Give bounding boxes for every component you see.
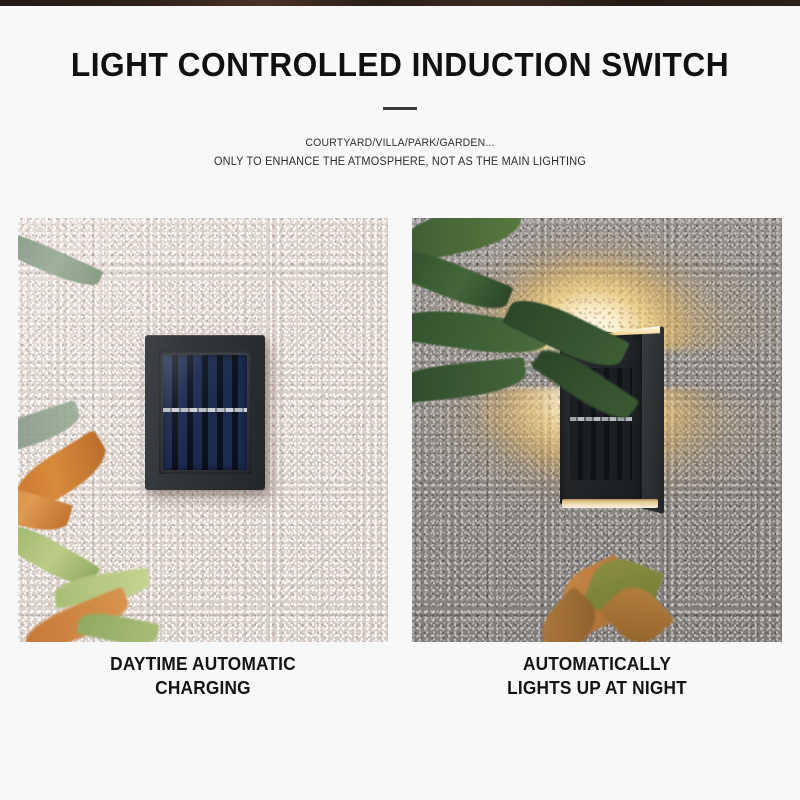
- title-divider: [383, 107, 417, 110]
- subtitle-line-2: ONLY TO ENHANCE THE ATMOSPHERE, NOT AS T…: [20, 153, 780, 173]
- caption-daytime-line-1: DAYTIME AUTOMATIC: [25, 652, 380, 676]
- caption-daytime: DAYTIME AUTOMATIC CHARGING: [25, 652, 380, 701]
- caption-night: AUTOMATICALLY LIGHTS UP AT NIGHT: [419, 652, 774, 701]
- photo-row: [18, 218, 782, 642]
- caption-night-line-2: LIGHTS UP AT NIGHT: [419, 676, 774, 700]
- caption-row: DAYTIME AUTOMATIC CHARGING AUTOMATICALLY…: [18, 652, 782, 701]
- caption-daytime-line-2: CHARGING: [25, 676, 380, 700]
- lamp-side-face: [640, 326, 664, 514]
- photo-daytime-charging: [18, 218, 388, 642]
- subtitle-block: COURTYARD/VILLA/PARK/GARDEN... ONLY TO E…: [0, 134, 800, 172]
- lamp-bezel: [159, 351, 251, 474]
- solar-panel: [163, 355, 247, 470]
- bottom-light-emitter: [562, 499, 658, 508]
- header: LIGHT CONTROLLED INDUCTION SWITCH COURTY…: [0, 6, 800, 172]
- subtitle-line-1: COURTYARD/VILLA/PARK/GARDEN...: [20, 134, 780, 153]
- photo-night-lighting: [412, 218, 782, 642]
- caption-night-line-1: AUTOMATICALLY: [419, 652, 774, 676]
- page-title: LIGHT CONTROLLED INDUCTION SWITCH: [16, 48, 784, 81]
- solar-wall-light-day: [145, 335, 265, 490]
